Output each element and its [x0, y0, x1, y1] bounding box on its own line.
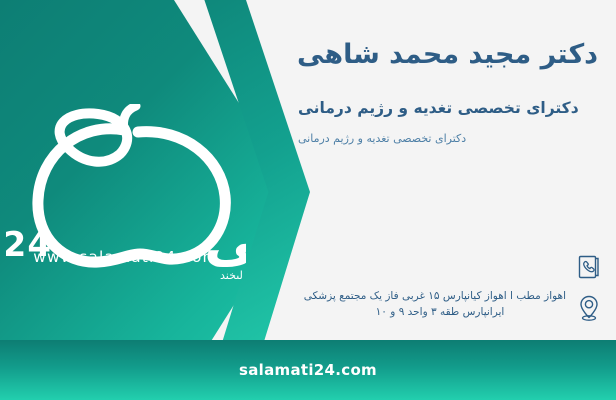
- footer-site-url[interactable]: salamati24.com: [239, 361, 377, 379]
- logo-website-url: www.salamati24.com: [0, 248, 252, 266]
- map-pin-icon[interactable]: [574, 293, 604, 323]
- footer-bar: salamati24.com: [0, 340, 616, 400]
- address-line-1: اهواز مطب ا اهواز کیانپارس ۱۵ غربی فاز ی…: [314, 288, 566, 304]
- doctor-name: دکتر مجید محمد شاهی: [298, 38, 598, 72]
- contact-icons: [570, 252, 604, 323]
- doctor-specialty-main: دکترای تخصصی تغدیه و رژیم درمانی: [298, 98, 598, 118]
- address-line-2: ایرانپارس طقه ۳ واحد ۹ و ۱۰: [314, 304, 566, 320]
- doctor-specialty-sub: دکترای تخصصی تغدیه و رژیم درمانی: [298, 132, 598, 146]
- business-card: 24 سلامتی به راحتی یک لبخند www.salamati…: [0, 0, 616, 400]
- svg-text:به راحتی یک لبخند: به راحتی یک لبخند: [220, 269, 246, 279]
- phone-book-icon[interactable]: [574, 252, 604, 282]
- clinic-address: اهواز مطب ا اهواز کیانپارس ۱۵ غربی فاز ی…: [314, 288, 566, 321]
